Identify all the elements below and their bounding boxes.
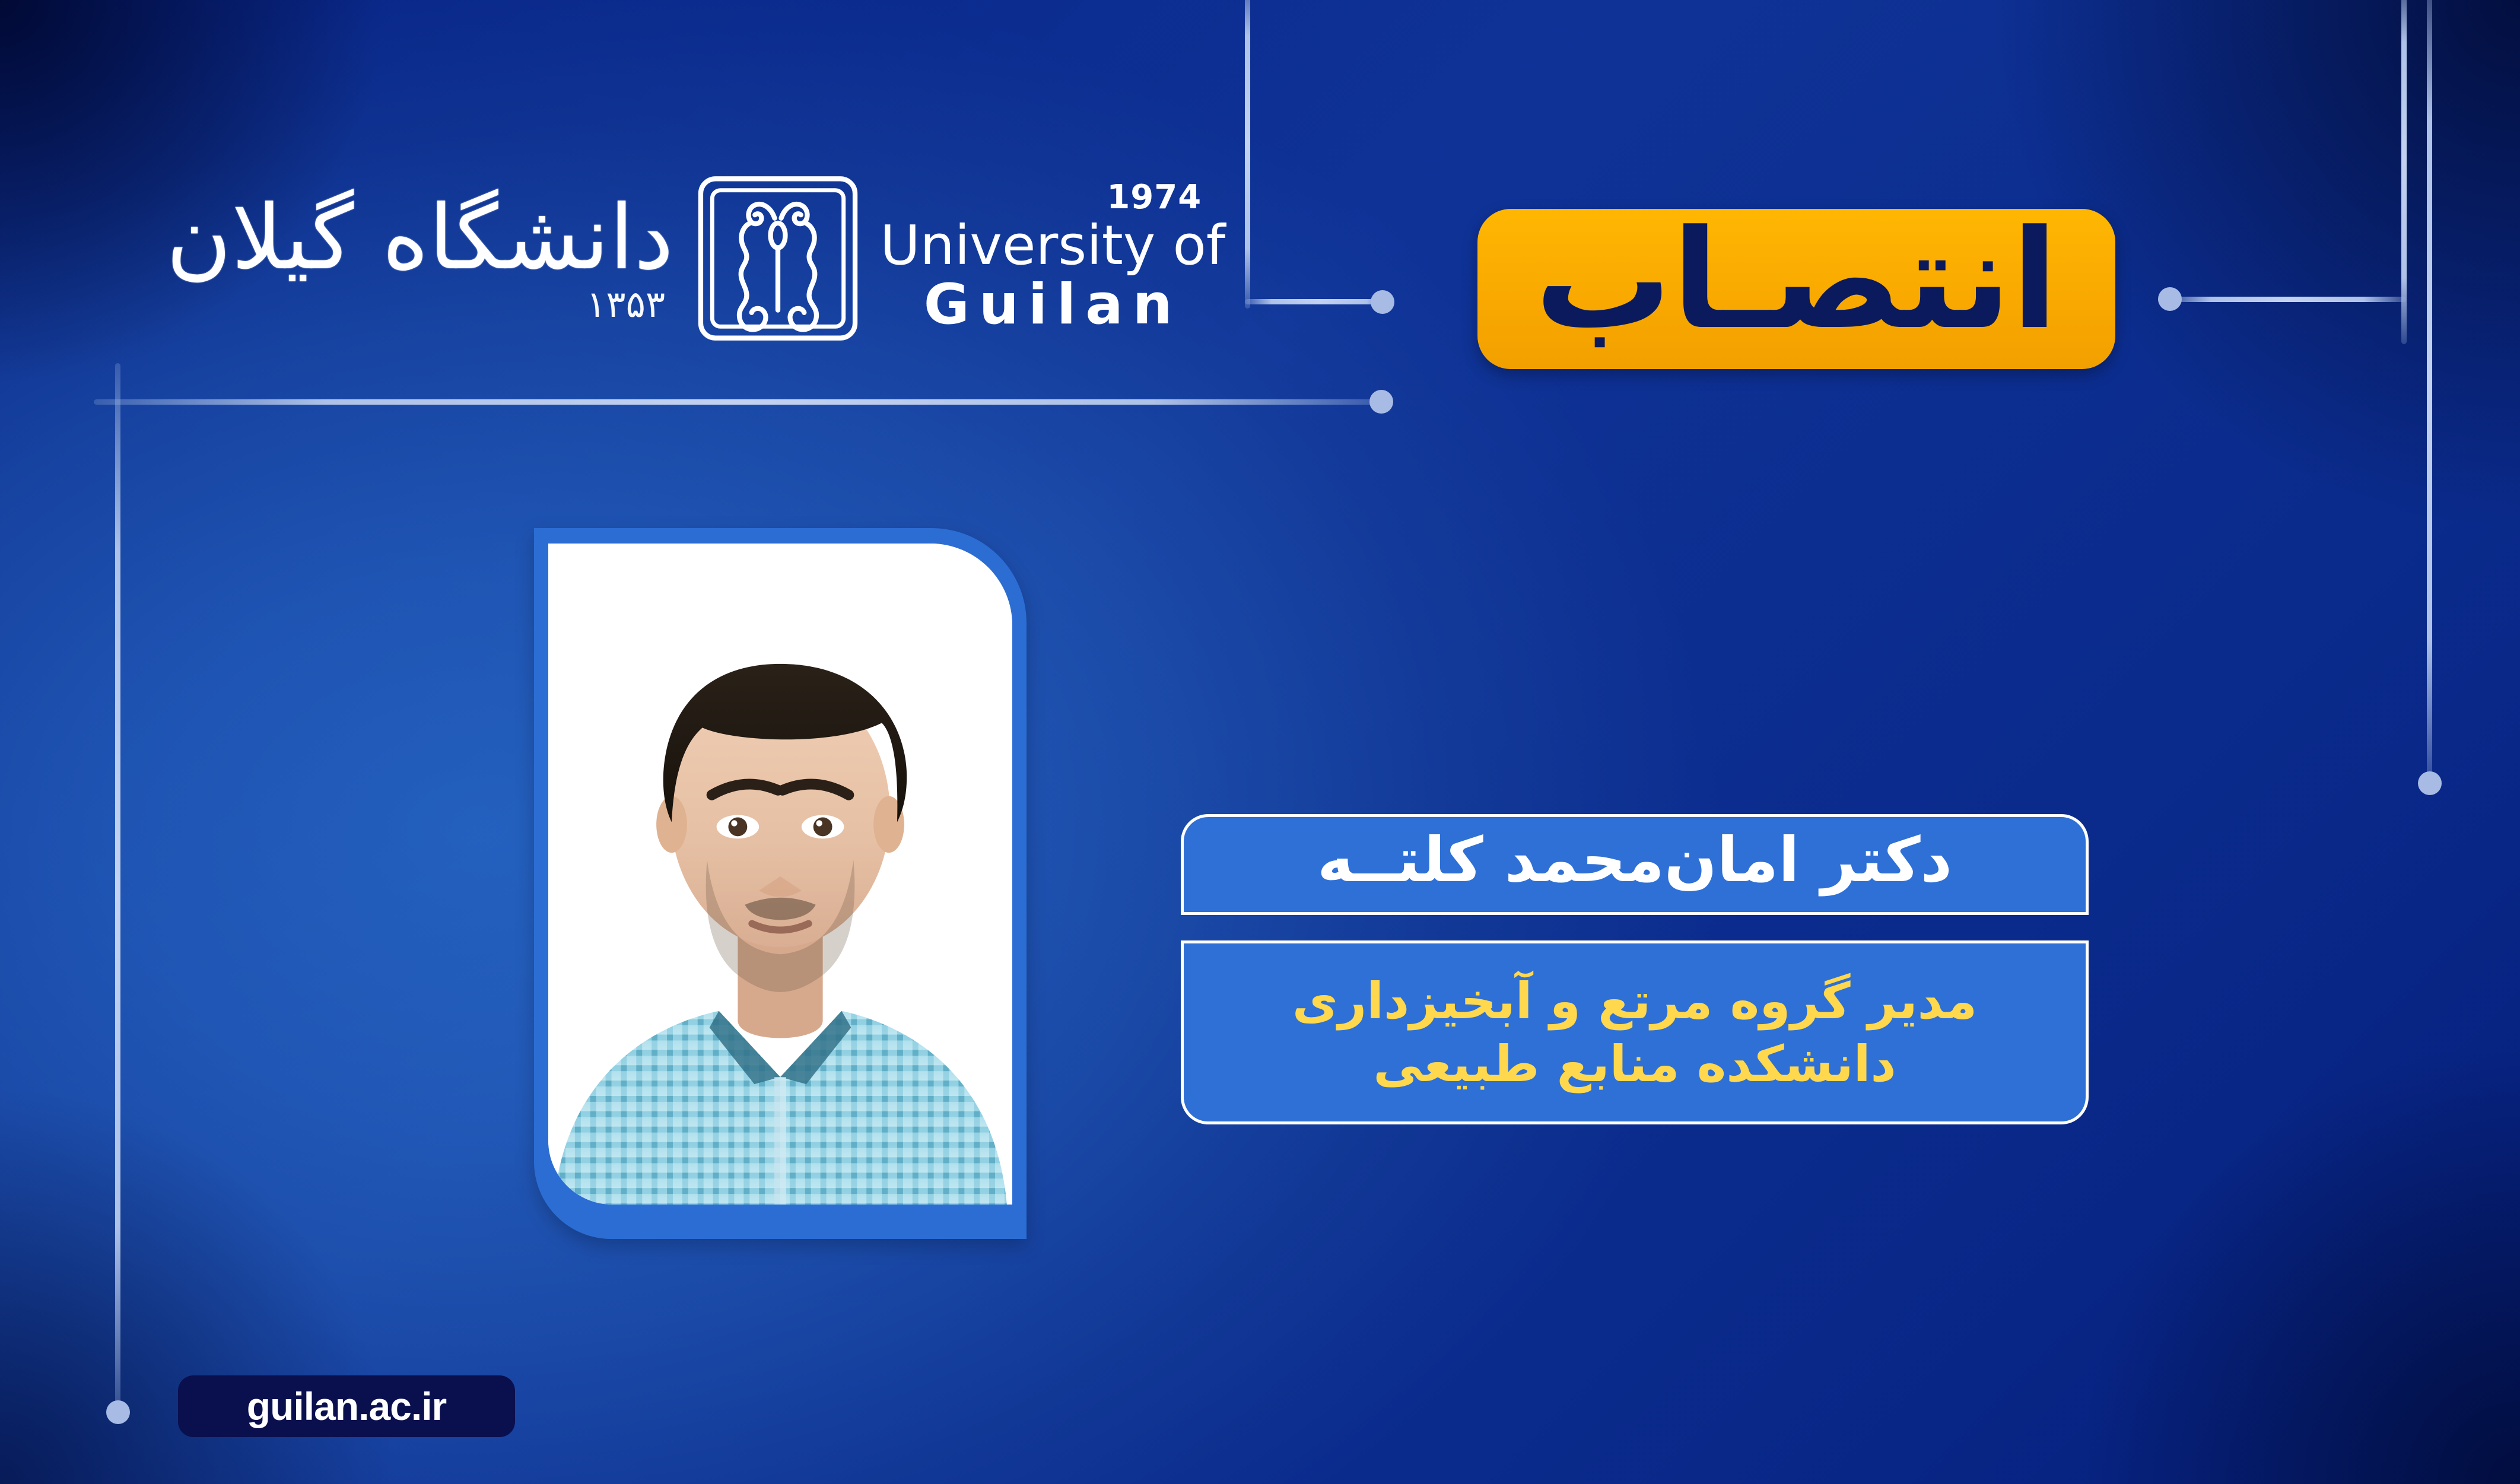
website-url-label: guilan.ac.ir	[247, 1387, 446, 1426]
logo-persian-year: ۱۳۵۳	[586, 286, 665, 323]
appointment-badge: انتصـاب	[1477, 209, 2115, 369]
university-logo: دانشگاه گیلان ۱۳۵۳ 1974 University of Gu…	[166, 160, 1234, 356]
logo-persian-text: دانشگاه گیلان ۱۳۵۳	[166, 193, 673, 323]
deco-line-horizontal-logo-underline	[94, 399, 1385, 405]
logo-english-text: 1974 University of Guilan	[880, 181, 1225, 335]
deco-line-vertical-top-center	[1245, 0, 1250, 309]
deco-dot-right-inner-end	[2418, 771, 2442, 795]
person-role-banner: مدیر گروه مرتع و آبخیزداری دانشکده منابع…	[1181, 940, 2089, 1124]
deco-dot-bottom-left	[106, 1400, 130, 1424]
website-url-badge[interactable]: guilan.ac.ir	[178, 1375, 515, 1437]
person-role-line-2: دانشکده منابع طبیعی	[1373, 1034, 1896, 1094]
appointment-badge-label: انتصـاب	[1535, 212, 2058, 366]
portrait-frame	[534, 528, 1027, 1239]
deco-dot-upper-right	[1371, 290, 1394, 314]
person-name-banner: دکتر امان‌محمد کلتــه	[1181, 814, 2089, 915]
person-name-label: دکتر امان‌محمد کلتــه	[1317, 829, 1952, 900]
portrait-photo	[548, 544, 1012, 1205]
logo-english-year: 1974	[1107, 181, 1202, 214]
deco-line-vertical-left-long	[115, 363, 120, 1415]
guilan-university-emblem-icon	[695, 174, 861, 343]
deco-line-vertical-right-outer	[2401, 0, 2407, 344]
deco-dot-right-corner	[2158, 287, 2182, 311]
logo-persian-name: دانشگاه گیلان	[166, 193, 673, 282]
deco-dot-logo-underline-end	[1369, 390, 1393, 414]
deco-line-vertical-right-inner	[2427, 0, 2432, 783]
logo-english-line1: University of	[880, 218, 1225, 274]
person-role-line-1: مدیر گروه مرتع و آبخیزداری	[1292, 971, 1977, 1031]
deco-line-horizontal-upper-right	[1245, 299, 1393, 304]
appointment-poster: دانشگاه گیلان ۱۳۵۳ 1974 University of Gu…	[0, 0, 2520, 1484]
logo-english-line2: Guilan	[924, 275, 1182, 335]
deco-line-horizontal-right-corner	[2169, 297, 2406, 302]
